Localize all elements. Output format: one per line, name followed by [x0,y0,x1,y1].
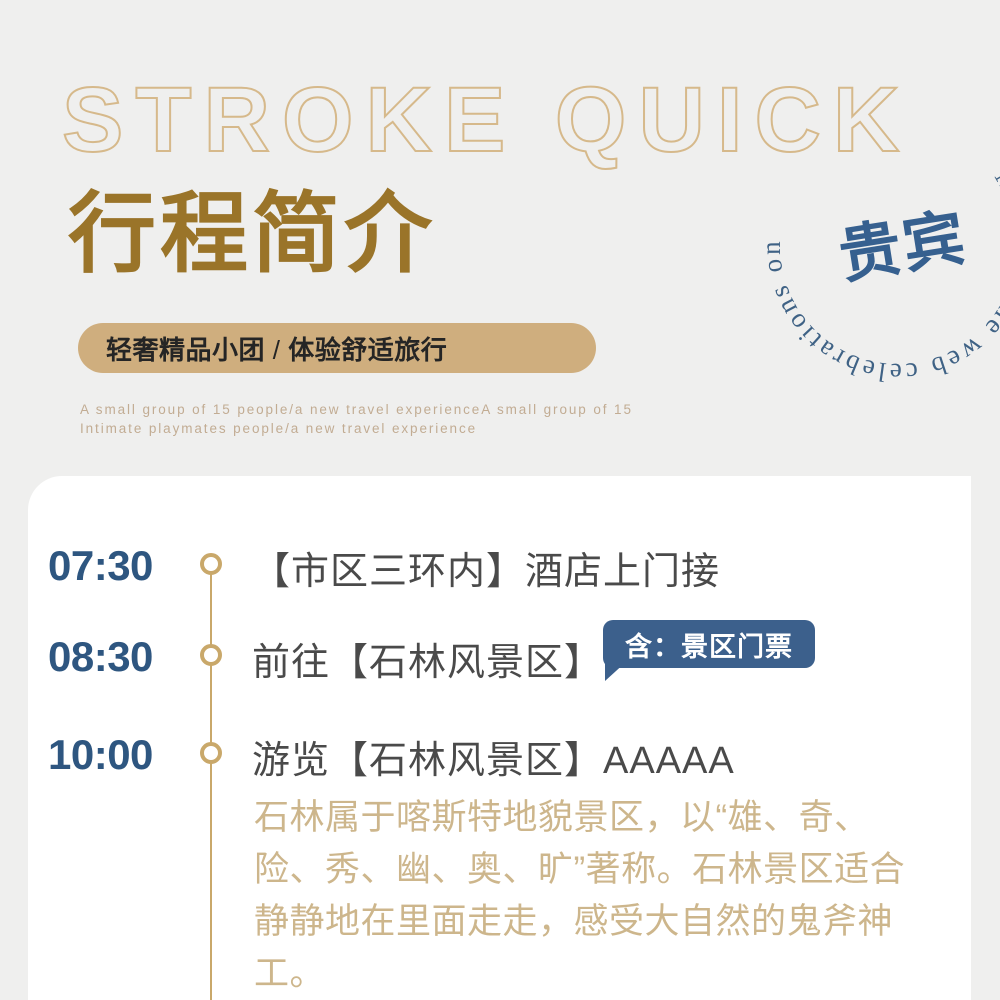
english-subtitle: A small group of 15 people/a new travel … [80,400,720,438]
timeline-title: 游览【石林风景区】AAAAA [252,729,735,784]
timeline-time: 08:30 [48,633,153,681]
vip-circular-badge: Max out the web celebrations on · 贵宾 [760,108,1000,384]
timeline-dot-icon [200,742,222,764]
inclusion-tag-label: 含：景区门票 [625,625,793,664]
timeline-time: 07:30 [48,542,153,590]
tagline-pill-text: 轻奢精品小团 / 体验舒适旅行 [106,330,447,367]
timeline-title: 【市区三环内】酒店上门接 [252,540,720,595]
timeline-dot-icon [200,644,222,666]
timeline-connector-line [210,565,212,1000]
tagline-separator: / [265,335,288,365]
tagline-pill: 轻奢精品小团 / 体验舒适旅行 [78,323,596,373]
english-subtitle-line-2: Intimate playmates people/a new travel e… [80,419,720,438]
timeline-description: 石林属于喀斯特地貌景区，以“雄、奇、险、秀、幽、奥、旷”著称。石林景区适合静静地… [254,792,914,1000]
timeline-dot-icon [200,553,222,575]
inclusion-tag[interactable]: 含：景区门票 [603,620,815,668]
tagline-rest: 体验舒适旅行 [288,335,447,365]
tagline-bold: 轻奢精品小团 [106,335,265,365]
english-subtitle-line-1: A small group of 15 people/a new travel … [80,400,720,419]
page-header: STROKE QUICK 行程简介 轻奢精品小团 / 体验舒适旅行 A smal… [0,0,1000,470]
timeline-title: 前往【石林风景区】 [252,631,603,686]
page-title: 行程简介 [68,190,436,278]
timeline-time: 10:00 [48,731,153,779]
